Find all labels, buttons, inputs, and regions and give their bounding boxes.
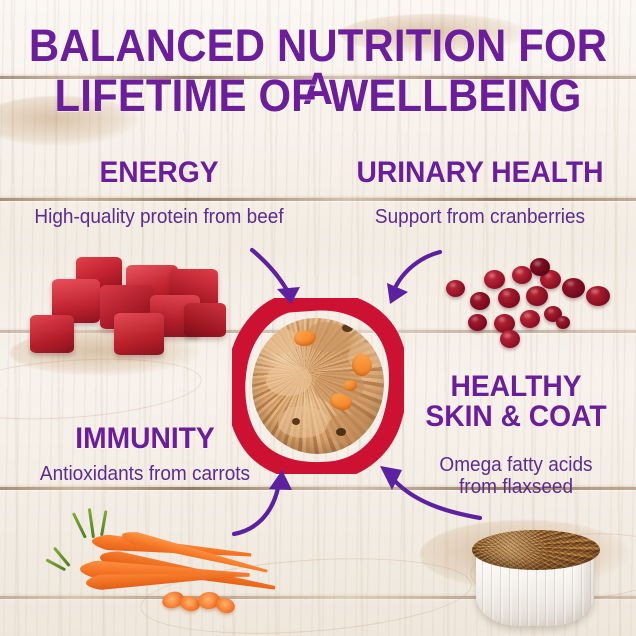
beef-cubes-image [18, 255, 233, 365]
flaxseed-bowl-image [468, 516, 604, 630]
cranberries-image [440, 258, 625, 346]
arrow-energy-to-bowl [250, 248, 316, 310]
arrow-skin-to-bowl [372, 444, 482, 520]
flaxseed [472, 530, 600, 570]
nutrition-poster: BALANCED NUTRITION FOR A LIFETIME OF WEL… [0, 0, 636, 636]
arrow-urinary-to-bowl [372, 248, 442, 310]
benefit-subtitle-energy: High-quality protein from beef [8, 207, 310, 229]
benefit-heading-skin-coat: HEALTHY SKIN & COAT [412, 372, 621, 432]
plank-seam [0, 198, 636, 201]
benefit-heading-urinary: URINARY HEALTH [339, 158, 621, 188]
arrow-immunity-to-bowl [232, 466, 324, 536]
benefit-heading-energy: ENERGY [10, 158, 309, 188]
benefit-subtitle-urinary: Support from cranberries [338, 207, 623, 229]
page-title-line-2: LIFETIME OF WELLBEING [22, 74, 613, 117]
